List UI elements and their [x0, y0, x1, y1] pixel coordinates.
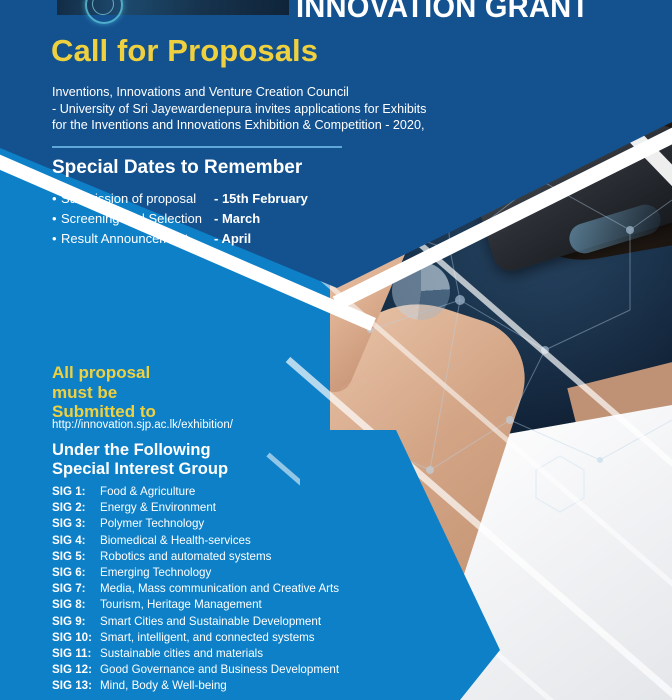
title-call-for-proposals: Call for Proposals: [51, 33, 318, 69]
special-dates-heading: Special Dates to Remember: [52, 157, 302, 179]
sig-value: Mind, Body & Well-being: [100, 678, 227, 694]
sig-row: SIG 7:Media, Mass communication and Crea…: [52, 581, 339, 597]
intro-line: for the Inventions and Innovations Exhib…: [52, 117, 472, 134]
sig-row: SIG 8:Tourism, Heritage Management: [52, 597, 339, 613]
date-value: - 15th February: [214, 189, 308, 209]
intro-line: Inventions, Innovations and Venture Crea…: [52, 84, 472, 101]
sig-value: Media, Mass communication and Creative A…: [100, 581, 339, 597]
intro-line: - University of Sri Jayewardenepura invi…: [52, 101, 472, 118]
sig-key: SIG 11:: [52, 646, 100, 662]
sig-value: Food & Agriculture: [100, 484, 195, 500]
sig-value: Biomedical & Health-services: [100, 533, 251, 549]
date-row: • Screening and Selection - March: [52, 209, 308, 229]
sig-heading-line: Special Interest Group: [52, 460, 228, 479]
sig-value: Emerging Technology: [100, 565, 211, 581]
sig-value: Polymer Technology: [100, 516, 204, 532]
date-row: • Result Announcement - April: [52, 229, 308, 249]
date-label: Submission of proposal: [61, 189, 214, 209]
sig-heading-line: Under the Following: [52, 441, 228, 460]
submission-heading-line: must be: [52, 383, 156, 403]
sig-row: SIG 1:Food & Agriculture: [52, 484, 339, 500]
sig-key: SIG 12:: [52, 662, 100, 678]
sig-row: SIG 3:Polymer Technology: [52, 516, 339, 532]
sig-row: SIG 5:Robotics and automated systems: [52, 549, 339, 565]
special-dates-list: • Submission of proposal - 15th February…: [52, 189, 308, 249]
date-label: Screening and Selection: [61, 209, 214, 229]
submission-url-link[interactable]: http://innovation.sjp.ac.lk/exhibition/: [52, 419, 233, 431]
bullet-icon: •: [52, 229, 61, 249]
sig-row: SIG 6:Emerging Technology: [52, 565, 339, 581]
sig-key: SIG 5:: [52, 549, 100, 565]
sig-key: SIG 7:: [52, 581, 100, 597]
sig-key: SIG 10:: [52, 630, 100, 646]
sig-row: SIG 4:Biomedical & Health-services: [52, 533, 339, 549]
poster-root: INNOVATION GRANT Call for Proposals Inve…: [0, 0, 672, 700]
sig-key: SIG 4:: [52, 533, 100, 549]
sig-row: SIG 9:Smart Cities and Sustainable Devel…: [52, 614, 339, 630]
sig-key: SIG 3:: [52, 516, 100, 532]
sig-value: Good Governance and Business Development: [100, 662, 339, 678]
poster-content: INNOVATION GRANT Call for Proposals Inve…: [0, 0, 672, 700]
sig-row: SIG 11:Sustainable cities and materials: [52, 646, 339, 662]
sig-value: Robotics and automated systems: [100, 549, 271, 565]
sig-list: SIG 1:Food & Agriculture SIG 2:Energy & …: [52, 484, 339, 695]
sig-value: Tourism, Heritage Management: [100, 597, 262, 613]
sig-key: SIG 1:: [52, 484, 100, 500]
submission-heading: All proposal must be Submitted to: [52, 363, 156, 422]
intro-paragraph: Inventions, Innovations and Venture Crea…: [52, 84, 472, 134]
sig-value: Energy & Environment: [100, 500, 216, 516]
title-innovation-grant: INNOVATION GRANT: [296, 0, 589, 25]
sig-key: SIG 13:: [52, 678, 100, 694]
sig-row: SIG 10:Smart, intelligent, and connected…: [52, 630, 339, 646]
bullet-icon: •: [52, 189, 61, 209]
sig-row: SIG 2:Energy & Environment: [52, 500, 339, 516]
date-row: • Submission of proposal - 15th February: [52, 189, 308, 209]
sig-heading: Under the Following Special Interest Gro…: [52, 441, 228, 479]
sig-row: SIG 13:Mind, Body & Well-being: [52, 678, 339, 694]
date-label: Result Announcement: [61, 229, 214, 249]
section-divider: [52, 146, 342, 148]
sig-key: SIG 9:: [52, 614, 100, 630]
submission-heading-line: All proposal: [52, 363, 156, 383]
sig-row: SIG 12:Good Governance and Business Deve…: [52, 662, 339, 678]
date-value: - April: [214, 229, 251, 249]
sig-key: SIG 8:: [52, 597, 100, 613]
sig-value: Sustainable cities and materials: [100, 646, 263, 662]
sig-key: SIG 6:: [52, 565, 100, 581]
sig-value: Smart, intelligent, and connected system…: [100, 630, 315, 646]
bullet-icon: •: [52, 209, 61, 229]
sig-key: SIG 2:: [52, 500, 100, 516]
sig-value: Smart Cities and Sustainable Development: [100, 614, 321, 630]
date-value: - March: [214, 209, 260, 229]
